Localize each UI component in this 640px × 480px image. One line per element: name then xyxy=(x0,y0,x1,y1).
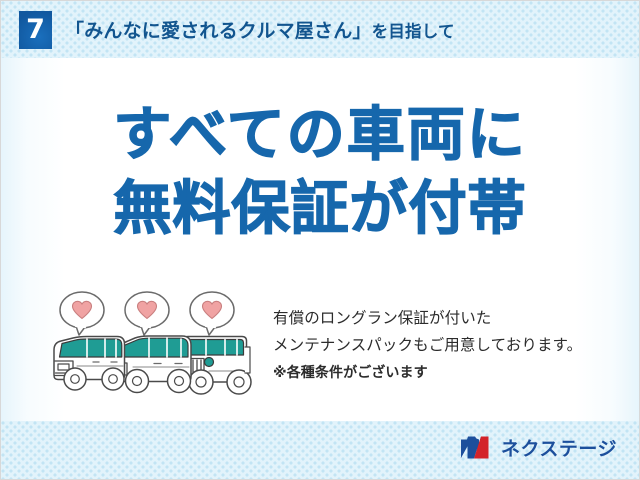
headline-line-2: 無料保証が付帯 xyxy=(1,171,639,245)
description-line-1: 有償のロングラン保証が付いた xyxy=(273,305,582,332)
lower-content: 有償のロングラン保証が付いた メンテナンスパックもご用意しております。 ※各種条… xyxy=(1,287,640,407)
heart-bubble-2 xyxy=(125,292,169,335)
nextage-n-logo-icon xyxy=(460,435,494,460)
headline-line-1: すべての車両に xyxy=(1,97,639,171)
kei-van-car xyxy=(54,337,125,391)
description-note: ※各種条件がございます xyxy=(273,359,582,386)
headline: すべての車両に 無料保証が付帯 xyxy=(1,97,639,245)
header: 7 「みんなに愛されるクルマ屋さん」を目指して xyxy=(1,1,640,58)
brand-logo: ネクステージ xyxy=(460,434,617,461)
cars-illustration xyxy=(49,287,265,405)
warranty-banner: 7 「みんなに愛されるクルマ屋さん」を目指して すべての車両に 無料保証が付帯 xyxy=(0,0,640,480)
header-title-tail: を目指して xyxy=(372,23,455,41)
description-line-2: メンテナンスパックもご用意しております。 xyxy=(273,332,582,359)
heart-bubble-1 xyxy=(60,292,104,335)
brand-logo-text: ネクステージ xyxy=(501,434,617,461)
heart-bubble-3 xyxy=(190,292,234,335)
header-title: 「みんなに愛されるクルマ屋さん」を目指して xyxy=(65,16,455,43)
description-block: 有償のロングラン保証が付いた メンテナンスパックもご用意しております。 ※各種条… xyxy=(273,287,582,386)
cars-illustration-svg xyxy=(49,287,265,405)
header-title-quoted: 「みんなに愛されるクルマ屋さん」 xyxy=(65,21,372,42)
section-number-badge: 7 xyxy=(19,11,52,49)
